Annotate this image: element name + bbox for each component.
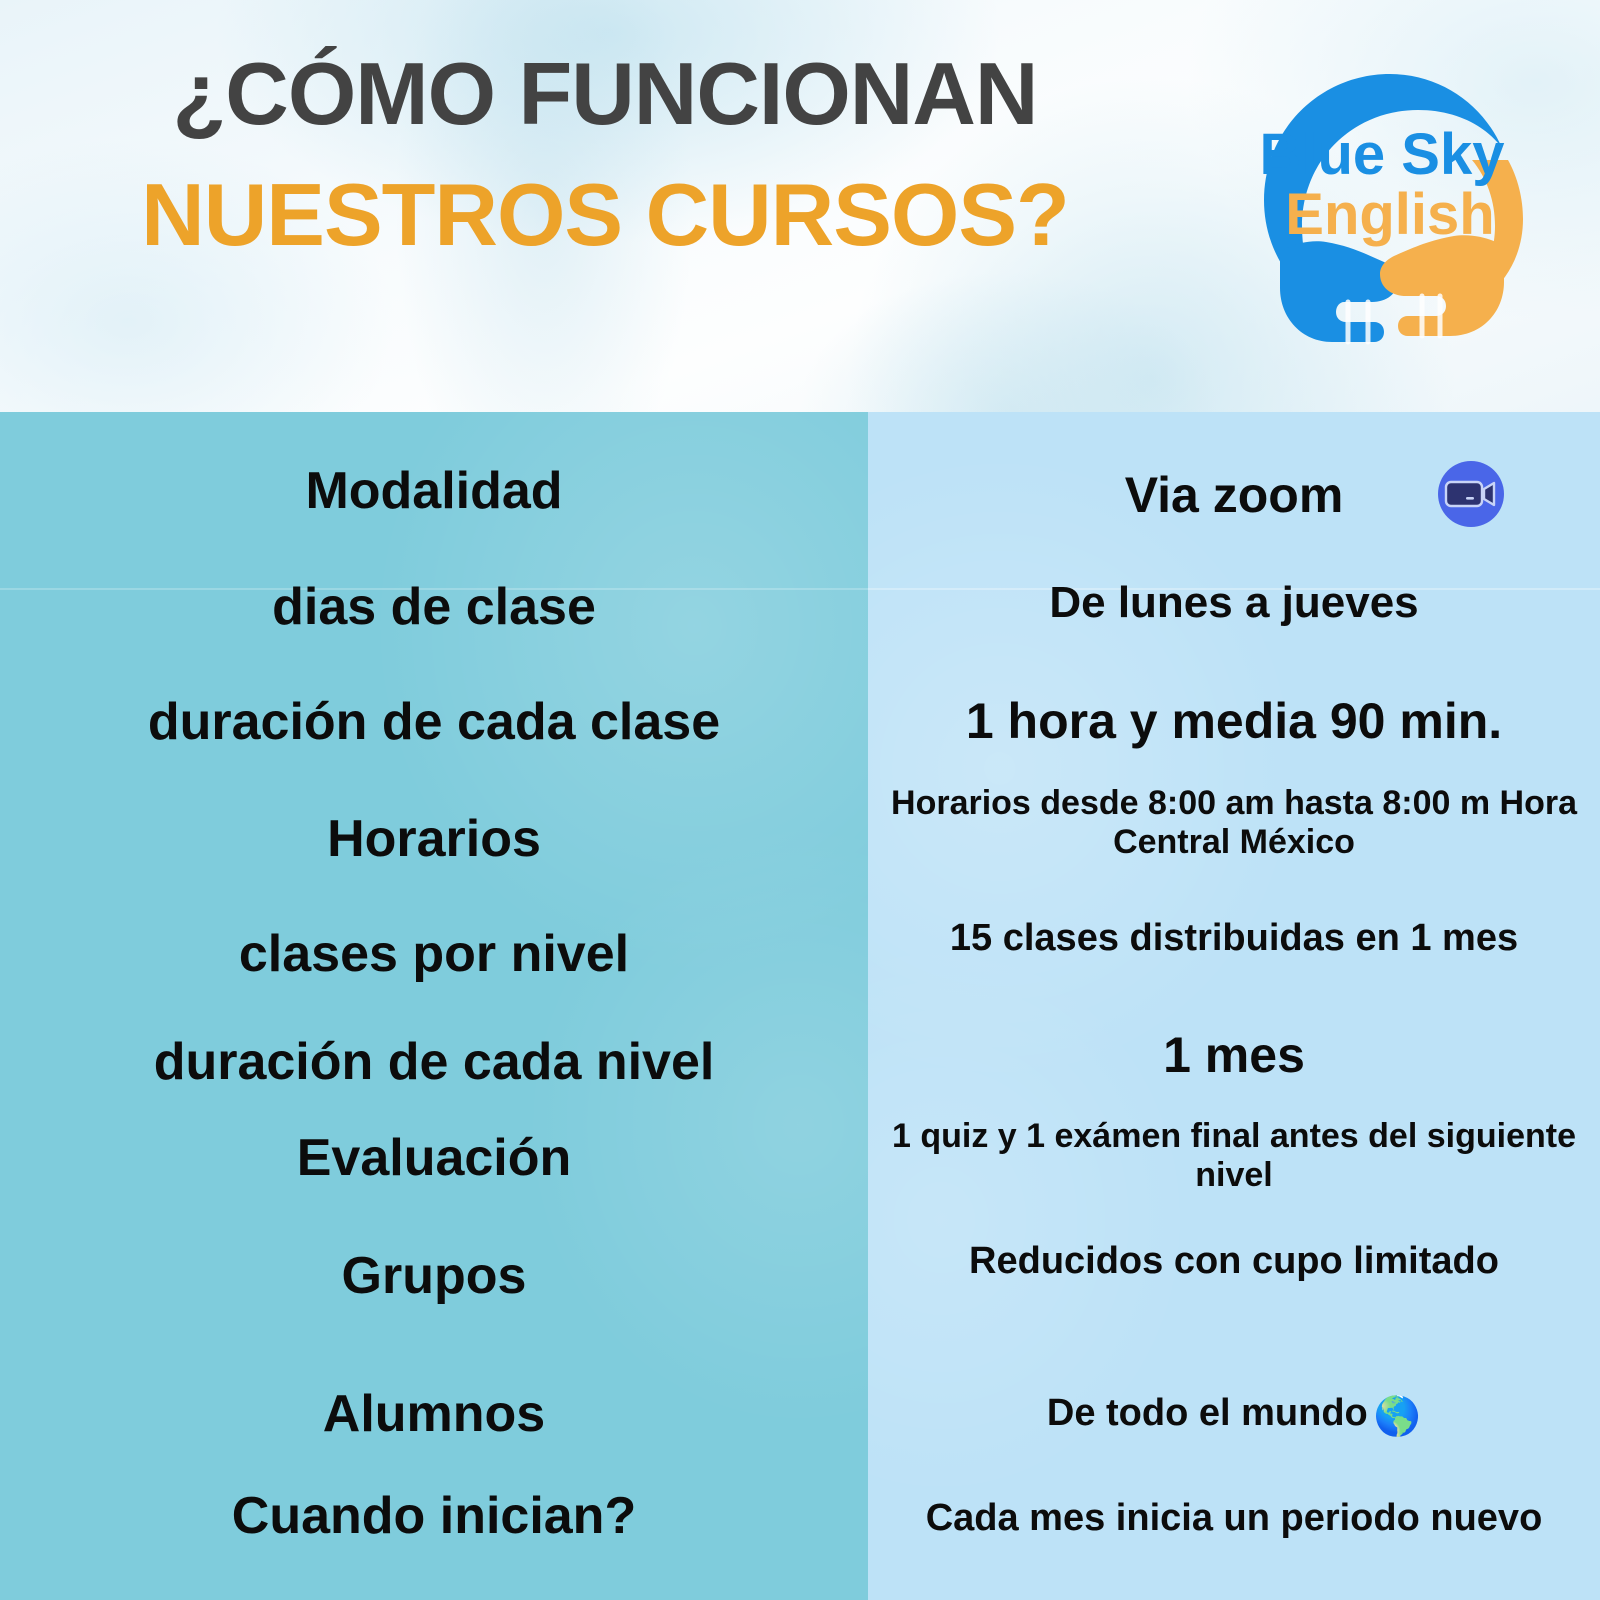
table-row-label-6: Evaluación [0, 1129, 868, 1187]
blue-sky-english-logo: Blue Sky English [1240, 56, 1540, 356]
info-table: Modalidad dias de clase duración de cada… [0, 412, 1600, 1600]
logo-text-english: English [1285, 182, 1494, 247]
table-row-label-4: clases por nivel [0, 925, 868, 983]
table-row-value-4: 15 clases distribuidas en 1 mes [868, 917, 1600, 960]
table-row-label-9: Cuando inician? [0, 1487, 868, 1545]
table-row-label-7: Grupos [0, 1247, 868, 1305]
poster-header: ¿CÓMO FUNCIONAN NUESTROS CURSOS? [0, 0, 1600, 412]
table-row-value-8-wrap: De todo el mundo🌎 [868, 1392, 1600, 1439]
table-row-label-5: duración de cada nivel [0, 1033, 868, 1091]
table-row-value-1: De lunes a jueves [868, 578, 1600, 628]
table-row-value-2: 1 hora y media 90 min. [868, 693, 1600, 750]
course-info-poster: ¿CÓMO FUNCIONAN NUESTROS CURSOS? [0, 0, 1600, 1600]
table-row-label-2: duración de cada clase [0, 693, 868, 751]
table-row-label-8: Alumnos [0, 1385, 868, 1443]
table-row-value-9: Cada mes inicia un periodo nuevo [868, 1497, 1600, 1540]
zoom-video-icon [1435, 460, 1507, 528]
table-row-label-3: Horarios [0, 810, 868, 868]
table-row-value-8: De todo el mundo [1047, 1392, 1368, 1434]
title-line-primary: ¿CÓMO FUNCIONAN [0, 46, 1210, 141]
table-row-value-3: Horarios desde 8:00 am hasta 8:00 m Hora… [868, 784, 1600, 862]
table-row-label-1: dias de clase [0, 578, 868, 636]
logo-text-blue-sky: Blue Sky [1260, 122, 1505, 187]
table-row-value-6: 1 quiz y 1 exámen final antes del siguie… [868, 1117, 1600, 1195]
table-column-values: Via zoom De lunes a jueves 1 hora y medi… [868, 412, 1600, 1600]
table-row-value-5: 1 mes [868, 1027, 1600, 1084]
poster-title: ¿CÓMO FUNCIONAN NUESTROS CURSOS? [0, 46, 1210, 262]
table-column-labels: Modalidad dias de clase duración de cada… [0, 412, 868, 1600]
table-row-value-7: Reducidos con cupo limitado [868, 1240, 1600, 1283]
globe-americas-icon: 🌎 [1374, 1396, 1421, 1439]
title-line-secondary: NUESTROS CURSOS? [0, 167, 1210, 262]
table-row-label-0: Modalidad [0, 462, 868, 520]
